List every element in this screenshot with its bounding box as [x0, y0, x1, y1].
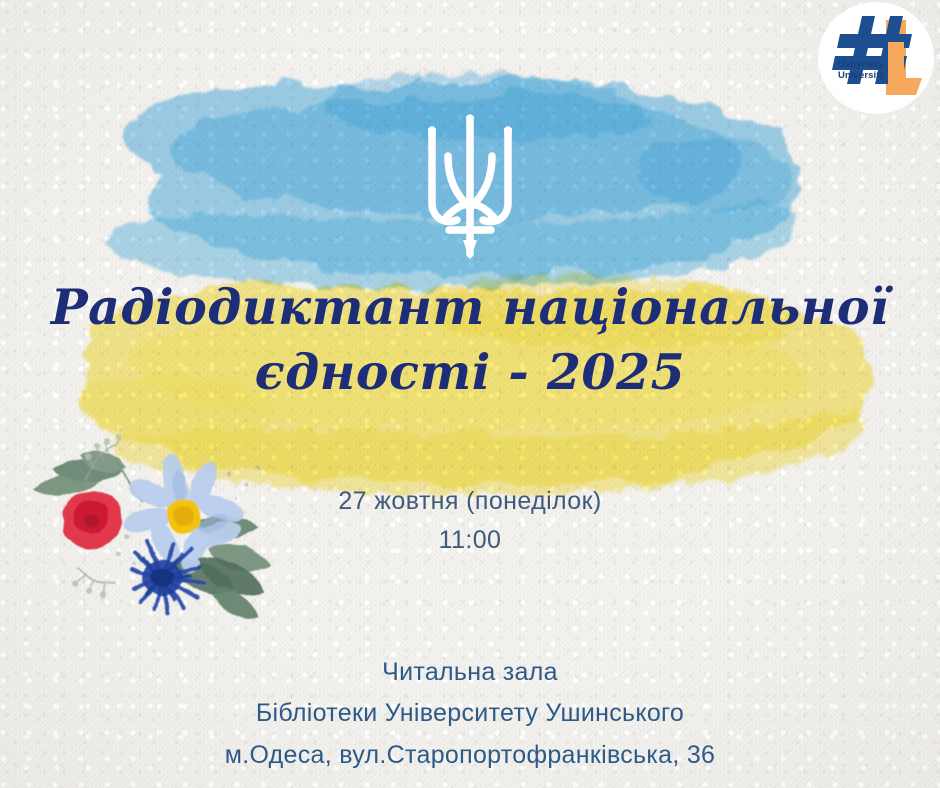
title-line-2: єдності - 2025	[0, 348, 940, 397]
red-poppy-flower	[63, 491, 122, 549]
event-venue: Читальна зала Бібліотеки Університету Уш…	[0, 652, 940, 776]
poster-title: Радіодиктант національної єдності - 2025	[0, 283, 940, 397]
venue-line-1: Читальна зала	[0, 652, 940, 693]
poster-canvas: Радіодиктант національної єдності - 2025…	[0, 0, 940, 788]
title-line-1: Радіодиктант національної	[0, 283, 940, 332]
logo-mark-icon	[818, 2, 934, 114]
venue-line-3: м.Одеса, вул.Старопортофранківська, 36	[0, 735, 940, 776]
logo-name-line-2: University	[838, 71, 900, 82]
ukrainian-trident-icon	[415, 108, 525, 263]
venue-line-2: Бібліотеки Університету Ушинського	[0, 693, 940, 734]
ushynsky-university-logo: Ushynsky University	[818, 2, 934, 114]
watercolor-flower-bouquet	[22, 428, 290, 628]
logo-university-name: Ushynsky University	[838, 60, 900, 81]
